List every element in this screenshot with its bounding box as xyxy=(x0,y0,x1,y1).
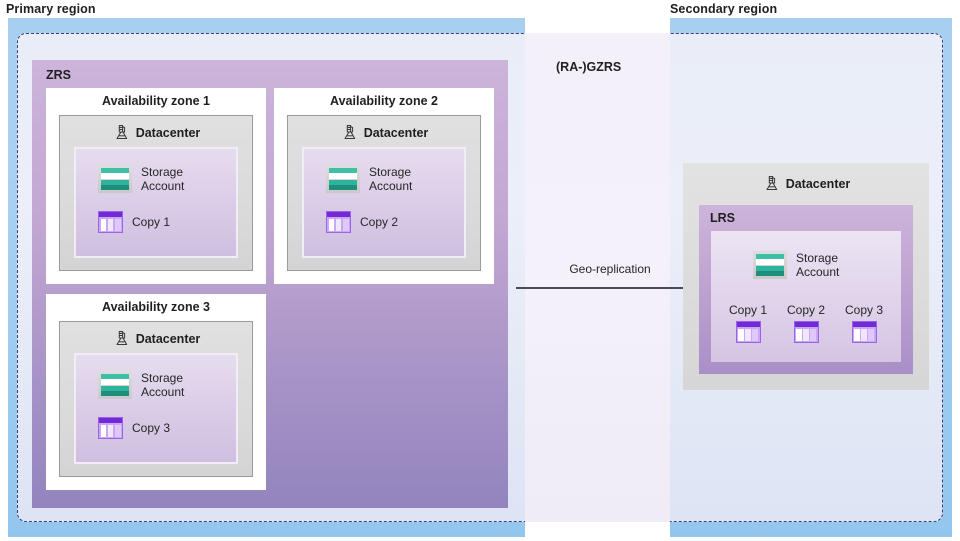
copy-icon xyxy=(852,321,877,343)
copy-icon xyxy=(98,417,123,439)
resources-panel-az1: Storage Account Copy 1 xyxy=(74,147,238,258)
availability-zone-1-title: Availability zone 1 xyxy=(46,94,266,108)
storage-line-1: Storage xyxy=(141,371,183,385)
copy-label-az3: Copy 3 xyxy=(132,421,170,435)
arrow-line xyxy=(516,287,698,289)
secondary-storage-account-row: Storage Account xyxy=(753,251,839,279)
copy-label: Copy 3 xyxy=(845,303,883,317)
storage-account-icon xyxy=(326,165,360,193)
datacenter-card-az1: Datacenter Storage Account xyxy=(59,115,253,271)
datacenter-icon xyxy=(112,123,131,142)
secondary-datacenter-header: Datacenter xyxy=(683,174,929,193)
availability-zone-3: Availability zone 3 Datacenter xyxy=(46,294,266,490)
copy-label-az2: Copy 2 xyxy=(360,215,398,229)
secondary-datacenter-label: Datacenter xyxy=(786,177,851,191)
storage-account-icon xyxy=(98,371,132,399)
storage-line-2: Account xyxy=(141,385,184,399)
storage-account-label: Storage Account xyxy=(369,165,412,193)
datacenter-header-az2: Datacenter xyxy=(288,123,480,142)
storage-line-2: Account xyxy=(141,179,184,193)
secondary-copies-group: Copy 1 Copy 2 Copy 3 xyxy=(719,303,893,343)
lrs-container: LRS Storage Account Copy 1 xyxy=(699,205,913,374)
secondary-datacenter-card: Datacenter LRS Storage Account Copy 1 xyxy=(683,163,929,390)
storage-account-row-az1: Storage Account xyxy=(98,165,184,193)
datacenter-header-az1: Datacenter xyxy=(60,123,252,142)
gzrs-label: (RA-)GZRS xyxy=(556,60,621,74)
resources-panel-az2: Storage Account Copy 2 xyxy=(302,147,466,258)
datacenter-icon xyxy=(762,174,781,193)
storage-account-row-az3: Storage Account xyxy=(98,371,184,399)
secondary-copy-2: Copy 2 xyxy=(787,303,825,343)
storage-line-2: Account xyxy=(369,179,412,193)
primary-region-label: Primary region xyxy=(6,2,96,16)
datacenter-icon xyxy=(340,123,359,142)
datacenter-icon xyxy=(112,329,131,348)
copy-icon xyxy=(736,321,761,343)
storage-line-1: Storage xyxy=(369,165,411,179)
storage-line-1: Storage xyxy=(141,165,183,179)
lrs-resources-panel: Storage Account Copy 1 Copy 2 xyxy=(711,231,901,362)
copy-label: Copy 2 xyxy=(787,303,825,317)
storage-line-2: Account xyxy=(796,265,839,279)
secondary-copy-3: Copy 3 xyxy=(845,303,883,343)
datacenter-label-az1: Datacenter xyxy=(136,126,201,140)
geo-replication-label: Geo-replication xyxy=(516,262,704,276)
datacenter-card-az3: Datacenter Storage Account xyxy=(59,321,253,477)
availability-zone-3-title: Availability zone 3 xyxy=(46,300,266,314)
availability-zone-2-title: Availability zone 2 xyxy=(274,94,494,108)
copy-row-az2: Copy 2 xyxy=(326,211,398,233)
resources-panel-az3: Storage Account Copy 3 xyxy=(74,353,238,464)
zrs-label: ZRS xyxy=(46,68,71,82)
storage-account-label: Storage Account xyxy=(141,165,184,193)
storage-line-1: Storage xyxy=(796,251,838,265)
availability-zone-2: Availability zone 2 Datacenter xyxy=(274,88,494,284)
availability-zone-1: Availability zone 1 Datacenter xyxy=(46,88,266,284)
copy-row-az3: Copy 3 xyxy=(98,417,170,439)
secondary-copy-1: Copy 1 xyxy=(729,303,767,343)
datacenter-label-az2: Datacenter xyxy=(364,126,429,140)
copy-icon xyxy=(98,211,123,233)
datacenter-label-az3: Datacenter xyxy=(136,332,201,346)
lrs-label: LRS xyxy=(710,211,735,225)
copy-label-az1: Copy 1 xyxy=(132,215,170,229)
copy-label: Copy 1 xyxy=(729,303,767,317)
datacenter-card-az2: Datacenter Storage Account xyxy=(287,115,481,271)
storage-account-row-az2: Storage Account xyxy=(326,165,412,193)
storage-account-label: Storage Account xyxy=(141,371,184,399)
datacenter-header-az3: Datacenter xyxy=(60,329,252,348)
diagram-canvas: Primary region Secondary region (RA-)GZR… xyxy=(0,0,960,541)
copy-icon xyxy=(794,321,819,343)
copy-row-az1: Copy 1 xyxy=(98,211,170,233)
storage-account-label: Storage Account xyxy=(796,251,839,279)
storage-account-icon xyxy=(98,165,132,193)
secondary-region-label: Secondary region xyxy=(670,2,777,16)
copy-icon xyxy=(326,211,351,233)
storage-account-icon xyxy=(753,251,787,279)
